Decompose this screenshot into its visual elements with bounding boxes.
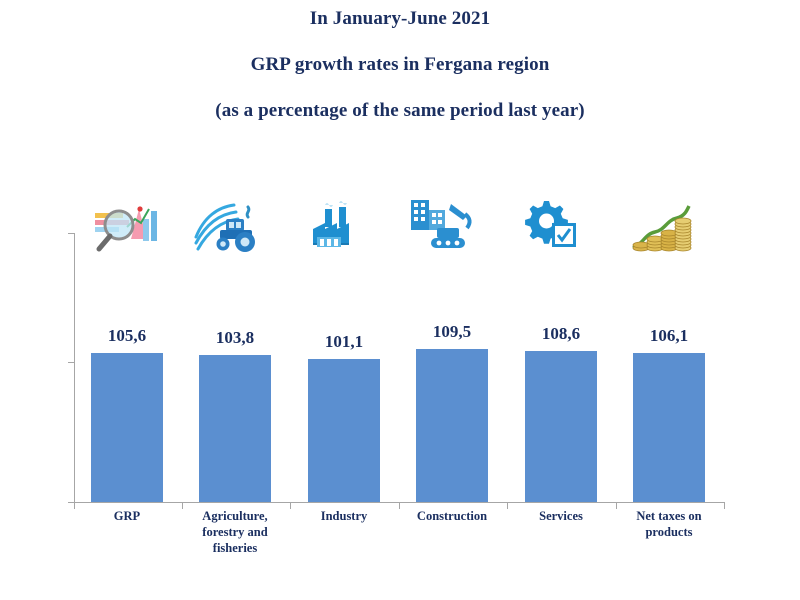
bars-layer: 105,6 GRP 103,8 Agriculture, forestry an…	[0, 0, 800, 600]
bar-group[interactable]: 103,8	[199, 355, 271, 502]
category-label: GRP	[91, 508, 163, 524]
category-label: Agriculture, forestry and fisheries	[189, 508, 281, 556]
bar-value-label: 103,8	[216, 328, 254, 348]
bar-value-label: 108,6	[542, 324, 580, 344]
bar-value-label: 109,5	[433, 322, 471, 342]
bar[interactable]	[416, 349, 488, 502]
bar-value-label: 106,1	[650, 326, 688, 346]
bar[interactable]	[525, 351, 597, 502]
bar[interactable]	[199, 355, 271, 502]
category-label: Services	[518, 508, 604, 524]
bar[interactable]	[633, 353, 705, 502]
bar-value-label: 101,1	[325, 332, 363, 352]
bar-group[interactable]: 106,1	[633, 353, 705, 502]
category-label: Industry	[303, 508, 385, 524]
bar-group[interactable]: 105,6	[91, 353, 163, 502]
category-label: Construction	[405, 508, 499, 524]
bar-group[interactable]: 101,1	[308, 359, 380, 502]
bar-group[interactable]: 108,6	[525, 351, 597, 502]
bar-value-label: 105,6	[108, 326, 146, 346]
bar[interactable]	[91, 353, 163, 502]
chart-root: In January-June 2021 GRP growth rates in…	[0, 0, 800, 600]
bar[interactable]	[308, 359, 380, 502]
bar-group[interactable]: 109,5	[416, 349, 488, 502]
category-label: Net taxes on products	[625, 508, 713, 540]
